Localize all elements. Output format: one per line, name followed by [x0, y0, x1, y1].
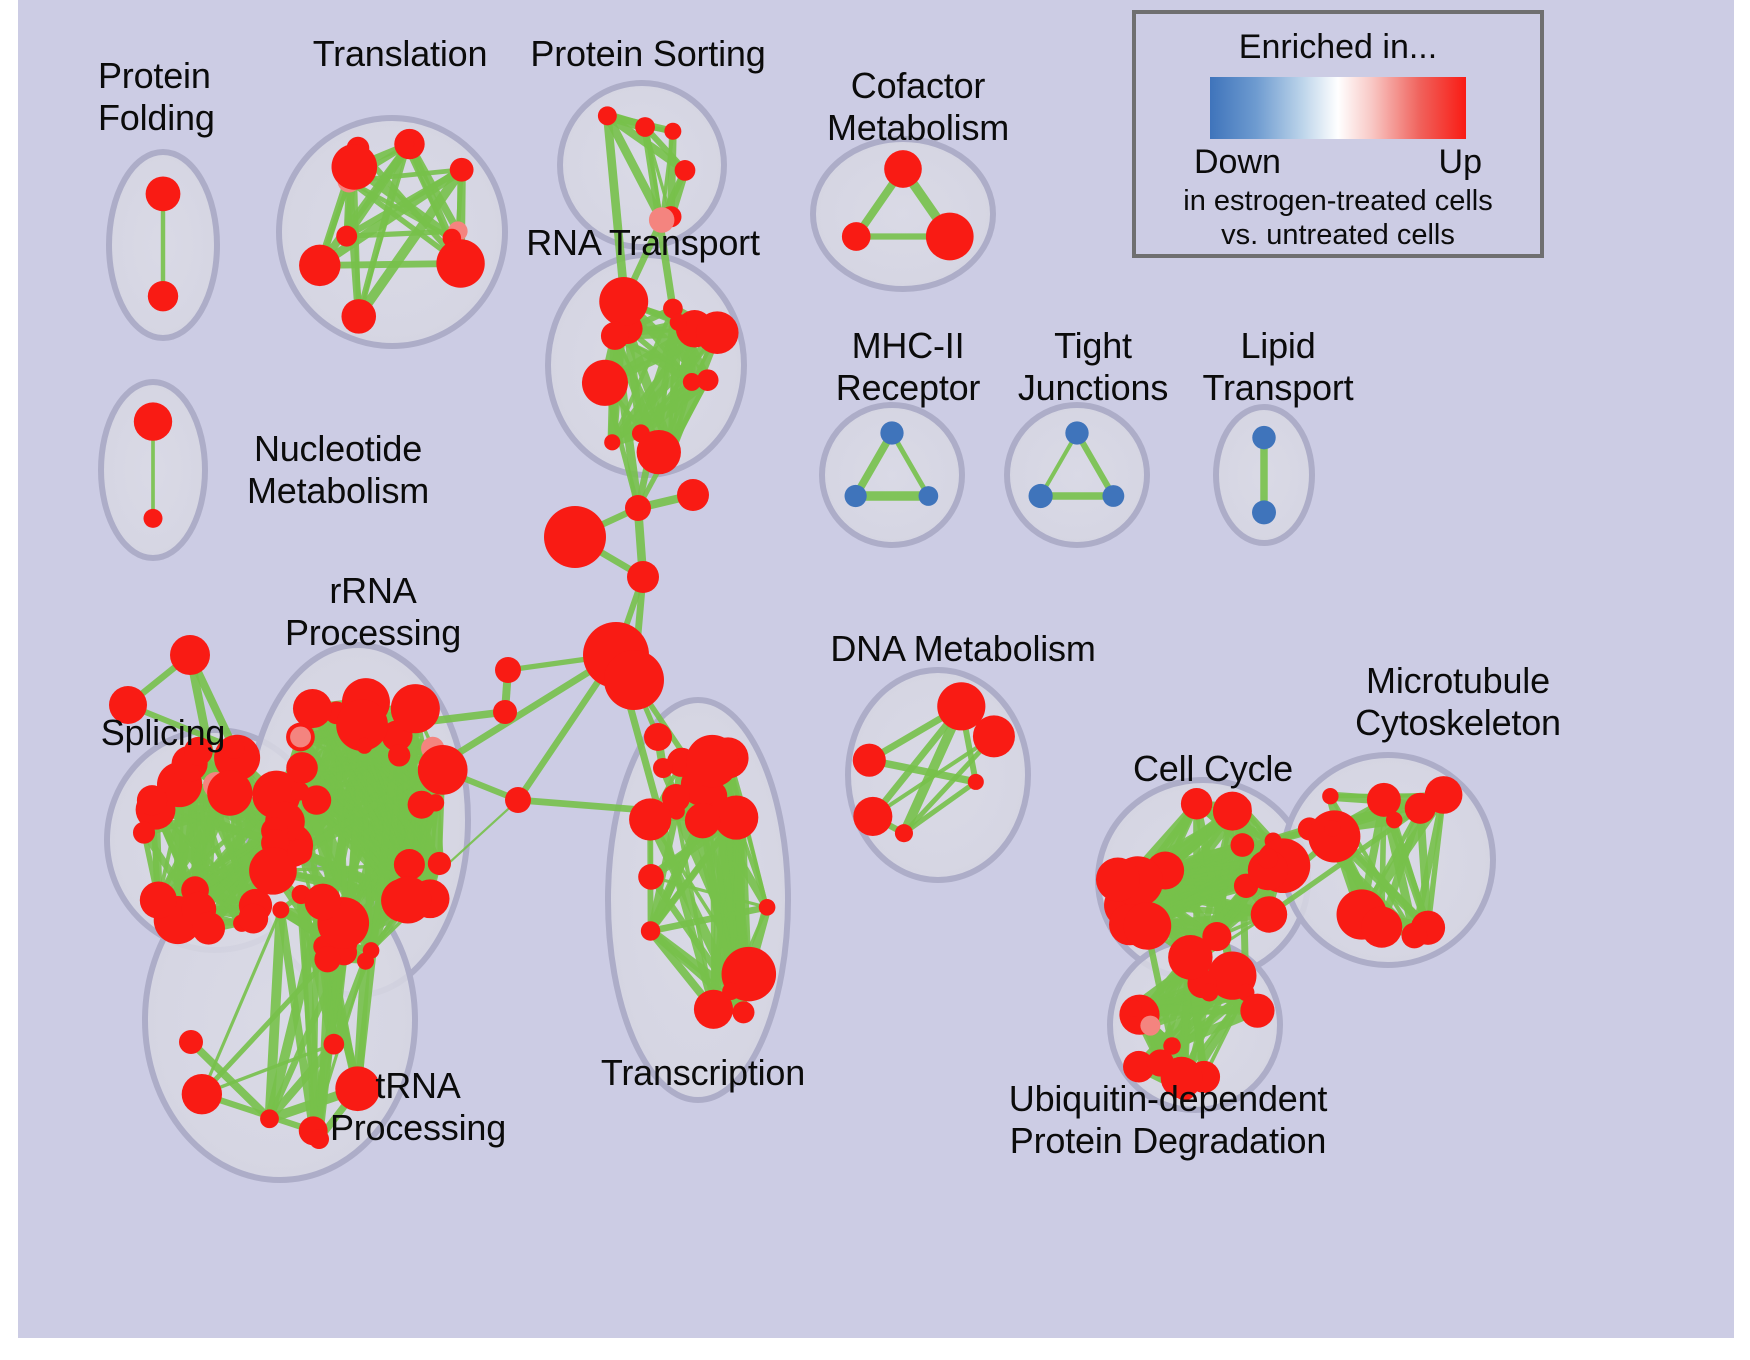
- network-node[interactable]: [332, 144, 378, 190]
- network-node[interactable]: [653, 758, 673, 778]
- network-node[interactable]: [238, 904, 268, 934]
- network-node[interactable]: [148, 281, 178, 311]
- network-node[interactable]: [207, 770, 252, 815]
- legend-box: Enriched in... Down Up in estrogen-treat…: [1132, 10, 1544, 258]
- network-node[interactable]: [1213, 792, 1252, 831]
- network-node[interactable]: [1102, 485, 1124, 507]
- network-node[interactable]: [505, 787, 531, 813]
- network-node[interactable]: [670, 314, 687, 331]
- network-node[interactable]: [134, 402, 172, 440]
- cluster-label-cofactor-metabolism: Cofactor Metabolism: [808, 65, 1028, 149]
- network-node[interactable]: [598, 106, 617, 125]
- network-node[interactable]: [450, 158, 474, 182]
- cluster-label-splicing: Splicing: [73, 712, 253, 754]
- cluster-label-rrna-processing: rRNA Processing: [273, 570, 473, 654]
- network-node[interactable]: [599, 277, 648, 326]
- network-node[interactable]: [759, 899, 776, 916]
- network-node[interactable]: [683, 373, 701, 391]
- network-node[interactable]: [272, 901, 289, 918]
- cluster-label-translation: Translation: [290, 33, 510, 75]
- network-node[interactable]: [291, 782, 309, 800]
- network-node[interactable]: [143, 509, 162, 528]
- network-node[interactable]: [880, 421, 903, 444]
- cluster-label-protein-folding: Protein Folding: [98, 55, 268, 139]
- network-node[interactable]: [133, 822, 155, 844]
- network-node[interactable]: [182, 1074, 222, 1114]
- network-node[interactable]: [1252, 426, 1275, 449]
- network-node[interactable]: [179, 1030, 203, 1054]
- network-node[interactable]: [675, 160, 696, 181]
- network-node[interactable]: [601, 322, 629, 350]
- legend-caption: in estrogen-treated cells vs. untreated …: [1183, 184, 1493, 252]
- network-node[interactable]: [1096, 858, 1140, 902]
- network-node[interactable]: [391, 684, 440, 733]
- network-node[interactable]: [146, 176, 181, 211]
- network-node[interactable]: [493, 700, 517, 724]
- network-node[interactable]: [973, 715, 1015, 757]
- network-node[interactable]: [1065, 421, 1088, 444]
- network-node[interactable]: [604, 434, 620, 450]
- network-node[interactable]: [895, 824, 913, 842]
- cluster-label-ubiquitin-dependent-protein-degradation: Ubiquitin-dependent Protein Degradation: [993, 1078, 1343, 1162]
- network-node[interactable]: [1181, 788, 1212, 819]
- network-node[interactable]: [1425, 776, 1463, 814]
- cluster-label-tight-junctions: Tight Junctions: [998, 325, 1188, 409]
- network-node[interactable]: [638, 864, 664, 890]
- network-node[interactable]: [394, 849, 425, 880]
- network-node[interactable]: [1257, 848, 1278, 869]
- legend-caption-line2: vs. untreated cells: [1221, 219, 1455, 251]
- network-node[interactable]: [686, 735, 738, 787]
- network-node[interactable]: [677, 479, 709, 511]
- network-node[interactable]: [336, 226, 357, 247]
- network-node[interactable]: [842, 222, 871, 251]
- network-node[interactable]: [1168, 935, 1212, 979]
- network-node[interactable]: [1230, 833, 1254, 857]
- network-node[interactable]: [170, 635, 210, 675]
- legend-title: Enriched in...: [1239, 28, 1437, 67]
- network-node[interactable]: [926, 213, 974, 261]
- cluster-label-trna-processing: tRNA Processing: [308, 1065, 528, 1149]
- network-node[interactable]: [625, 495, 651, 521]
- legend-low-label: Down: [1194, 143, 1281, 182]
- network-node[interactable]: [290, 727, 311, 748]
- network-node[interactable]: [664, 123, 681, 140]
- network-node[interactable]: [388, 744, 410, 766]
- legend-caption-line1: in estrogen-treated cells: [1183, 185, 1493, 217]
- network-node[interactable]: [1252, 500, 1276, 524]
- network-node[interactable]: [427, 794, 444, 811]
- network-node[interactable]: [644, 723, 672, 751]
- cluster-label-cell-cycle: Cell Cycle: [1113, 748, 1313, 790]
- network-node[interactable]: [140, 882, 177, 919]
- network-node[interactable]: [722, 982, 740, 1000]
- network-node[interactable]: [1029, 484, 1053, 508]
- network-node[interactable]: [685, 803, 720, 838]
- network-node[interactable]: [305, 884, 342, 921]
- network-node[interactable]: [428, 852, 451, 875]
- cluster-label-protein-sorting: Protein Sorting: [518, 33, 778, 75]
- network-node[interactable]: [495, 657, 521, 683]
- network-node[interactable]: [356, 738, 372, 754]
- network-node[interactable]: [696, 311, 739, 354]
- network-node[interactable]: [1125, 1000, 1142, 1017]
- network-node[interactable]: [604, 650, 664, 710]
- network-node[interactable]: [641, 921, 660, 940]
- network-node[interactable]: [1386, 812, 1403, 829]
- network-node[interactable]: [968, 774, 984, 790]
- legend-high-label: Up: [1439, 143, 1482, 182]
- network-node[interactable]: [357, 953, 374, 970]
- cluster-label-transcription: Transcription: [583, 1052, 823, 1094]
- network-node[interactable]: [544, 506, 606, 568]
- network-node[interactable]: [1361, 907, 1402, 948]
- network-node[interactable]: [853, 797, 892, 836]
- network-canvas: Protein FoldingTranslationProtein Sortin…: [18, 0, 1734, 1338]
- network-node[interactable]: [436, 239, 484, 287]
- network-node[interactable]: [627, 561, 659, 593]
- network-node[interactable]: [853, 744, 886, 777]
- cluster-label-lipid-transport: Lipid Transport: [1183, 325, 1373, 409]
- figure-root: Protein FoldingTranslationProtein Sortin…: [0, 0, 1750, 1360]
- network-node[interactable]: [635, 117, 655, 137]
- network-node[interactable]: [293, 689, 332, 728]
- network-node[interactable]: [418, 745, 468, 795]
- network-node[interactable]: [1124, 902, 1172, 950]
- network-node[interactable]: [1240, 994, 1274, 1028]
- legend-endpoints: Down Up: [1194, 143, 1482, 182]
- network-node[interactable]: [732, 1001, 754, 1023]
- network-node[interactable]: [1200, 983, 1218, 1001]
- cluster-label-mhc-ii-receptor: MHC-II Receptor: [813, 325, 1003, 409]
- legend-color-gradient: [1210, 77, 1466, 139]
- network-node[interactable]: [1140, 1016, 1160, 1036]
- network-node[interactable]: [1308, 810, 1360, 862]
- network-node[interactable]: [260, 1109, 279, 1128]
- cluster-label-rna-transport: RNA Transport: [513, 222, 773, 264]
- network-node[interactable]: [286, 752, 318, 784]
- network-node[interactable]: [299, 245, 340, 286]
- network-node[interactable]: [1322, 788, 1338, 804]
- cluster-label-nucleotide-metabolism: Nucleotide Metabolism: [213, 428, 463, 512]
- network-node[interactable]: [137, 785, 167, 815]
- network-node[interactable]: [714, 795, 758, 839]
- network-node[interactable]: [637, 430, 681, 474]
- network-node[interactable]: [395, 135, 414, 154]
- network-node[interactable]: [662, 784, 690, 812]
- network-node[interactable]: [1367, 783, 1401, 817]
- network-node[interactable]: [919, 486, 939, 506]
- network-node[interactable]: [314, 946, 340, 972]
- network-node[interactable]: [884, 150, 922, 188]
- network-node[interactable]: [192, 912, 225, 945]
- network-node[interactable]: [1251, 896, 1287, 932]
- network-node[interactable]: [845, 485, 867, 507]
- network-node[interactable]: [287, 839, 312, 864]
- cluster-label-microtubule-cytoskeleton: Microtubule Cytoskeleton: [1318, 660, 1598, 744]
- network-node[interactable]: [1401, 923, 1427, 949]
- network-node[interactable]: [384, 876, 431, 923]
- network-node[interactable]: [341, 299, 376, 334]
- cluster-label-dna-metabolism: DNA Metabolism: [823, 628, 1103, 670]
- network-node[interactable]: [323, 1034, 344, 1055]
- network-node[interactable]: [582, 360, 628, 406]
- network-node[interactable]: [1324, 820, 1340, 836]
